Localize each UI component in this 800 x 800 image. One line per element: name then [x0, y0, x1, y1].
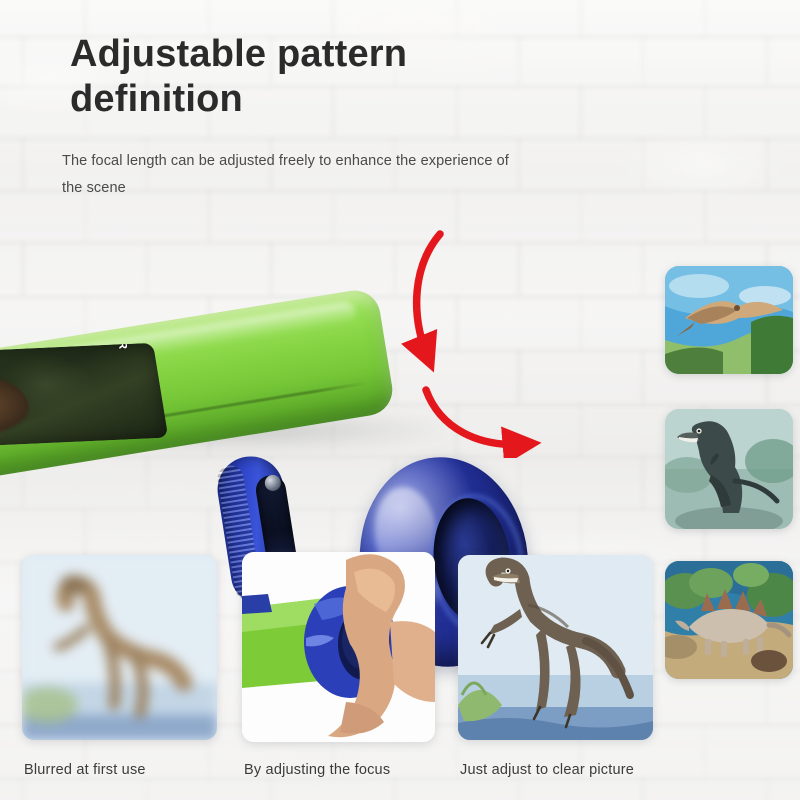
step-image-blurred[interactable]	[22, 555, 217, 740]
page-title: Adjustable pattern definition	[70, 32, 590, 122]
hand-adjusting-ring-icon	[242, 552, 435, 742]
pterodactyl-icon	[665, 266, 793, 374]
product-feature-page: Adjustable pattern definition The focal …	[0, 0, 800, 800]
product-hero-image: TORCH AND PROJECTOR	[0, 214, 566, 514]
caption-step-1: Blurred at first use	[24, 762, 146, 778]
label-dinosaur-art	[0, 373, 33, 437]
caption-step-2: By adjusting the focus	[244, 762, 390, 778]
stegosaurus-icon	[665, 561, 793, 679]
tyrannosaurus-icon	[665, 409, 793, 529]
step-image-clear[interactable]	[458, 555, 653, 740]
thumbnail-pterodactyl[interactable]	[665, 266, 793, 374]
step-image-adjusting[interactable]	[242, 552, 435, 742]
blurred-dinosaur-icon	[22, 555, 217, 740]
thumbnail-stegosaurus[interactable]	[665, 561, 793, 679]
torch-barrel: TORCH AND PROJECTOR	[0, 255, 401, 511]
page-title-line-1: Adjustable pattern	[70, 33, 407, 75]
page-title-line-2: definition	[70, 77, 590, 122]
thumbnail-tyrannosaurus[interactable]	[665, 409, 793, 529]
page-subtitle: The focal length can be adjusted freely …	[62, 148, 532, 202]
caption-step-3: Just adjust to clear picture	[460, 762, 634, 778]
clear-dinosaur-icon	[458, 555, 653, 740]
product-label: TORCH AND PROJECTOR	[0, 343, 168, 448]
